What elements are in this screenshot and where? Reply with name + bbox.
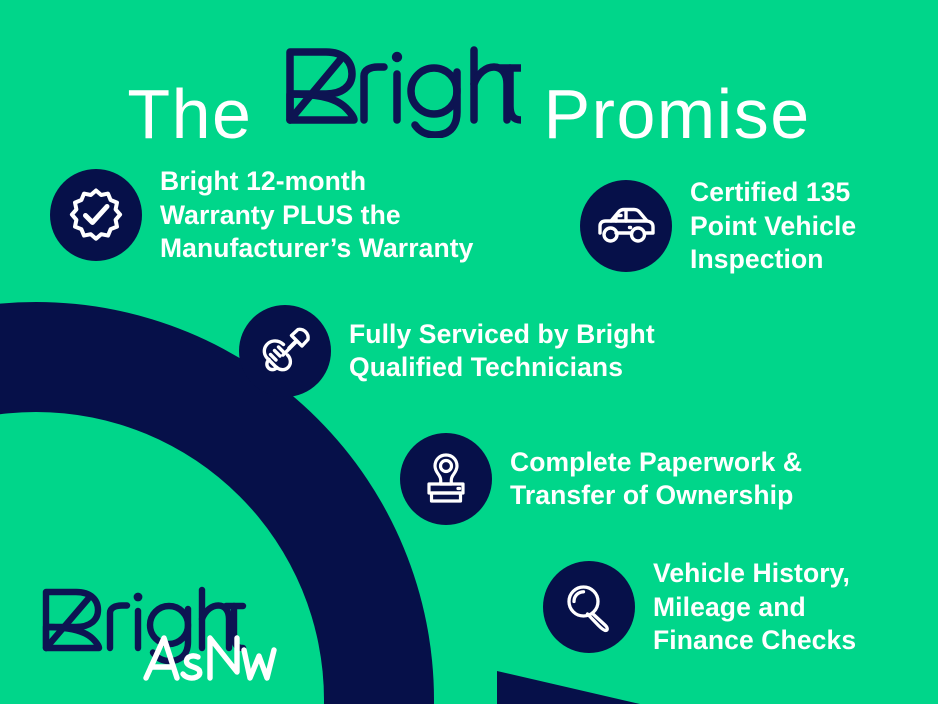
feature-item-warranty: Bright 12-month Warranty PLUS the Manufa… (50, 165, 474, 266)
title-line: The Bright (127, 34, 810, 166)
hand-wrench-icon (239, 305, 331, 397)
feature-item-paperwork: Complete Paperwork & Transfer of Ownersh… (400, 433, 802, 525)
feature-label: Bright 12-month Warranty PLUS the Manufa… (160, 165, 474, 266)
feature-item-servicing: Fully Serviced by Bright Qualified Techn… (239, 305, 655, 397)
magnifying-glass-icon (543, 561, 635, 653)
feature-item-inspection: Certified 135 Point Vehicle Inspection (580, 176, 856, 277)
feature-item-history-checks: Vehicle History, Mileage and Finance Che… (543, 557, 856, 658)
navy-wedge (497, 671, 640, 704)
rosette-check-icon (50, 169, 142, 261)
bright-wordmark-title: Bright (278, 34, 521, 138)
feature-label: Certified 135 Point Vehicle Inspection (690, 176, 856, 277)
feature-label: Fully Serviced by Bright Qualified Techn… (349, 318, 655, 385)
page-title: The Bright (0, 34, 938, 166)
rubber-stamp-icon (400, 433, 492, 525)
feature-label: Complete Paperwork & Transfer of Ownersh… (510, 446, 802, 513)
feature-label: Vehicle History, Mileage and Finance Che… (653, 557, 856, 658)
title-suffix: Promise (543, 62, 810, 166)
promise-poster: The Bright (0, 0, 938, 704)
title-prefix: The (127, 62, 252, 166)
car-icon (580, 180, 672, 272)
logo-bright-mark (46, 590, 243, 661)
brightasnew-logo: Bright AsNew (38, 578, 288, 682)
